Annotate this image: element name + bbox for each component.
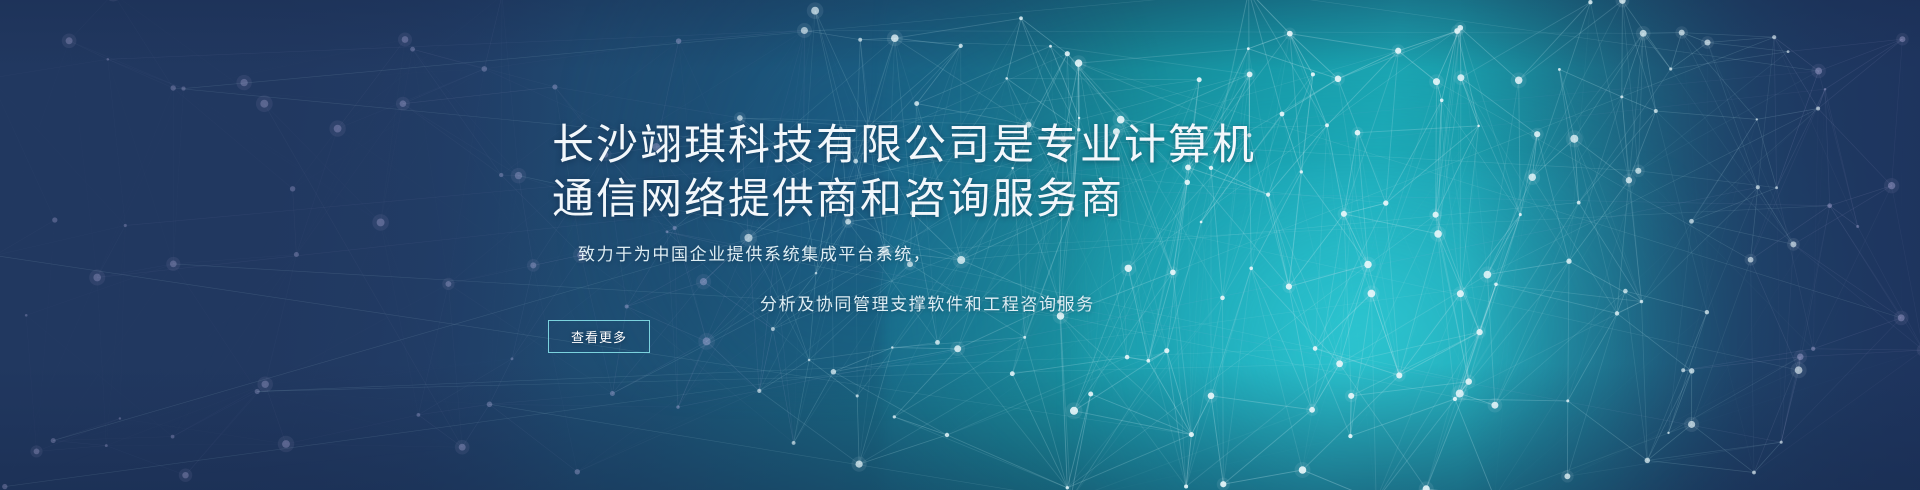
headline-line-2: 通信网络提供商和咨询服务商 [552,172,1632,226]
subtitle-line-2: 分析及协同管理支撑软件和工程咨询服务 [760,292,1632,318]
headline-line-1: 长沙翊琪科技有限公司是专业计算机 [552,118,1632,172]
view-more-button[interactable]: 查看更多 [548,320,650,353]
subtitle-line-1: 致力于为中国企业提供系统集成平台系统， [578,242,1632,268]
view-more-button-label: 查看更多 [571,327,627,346]
hero-banner: 长沙翊琪科技有限公司是专业计算机 通信网络提供商和咨询服务商 致力于为中国企业提… [0,0,1920,490]
hero-copy-block: 长沙翊琪科技有限公司是专业计算机 通信网络提供商和咨询服务商 致力于为中国企业提… [552,118,1632,318]
